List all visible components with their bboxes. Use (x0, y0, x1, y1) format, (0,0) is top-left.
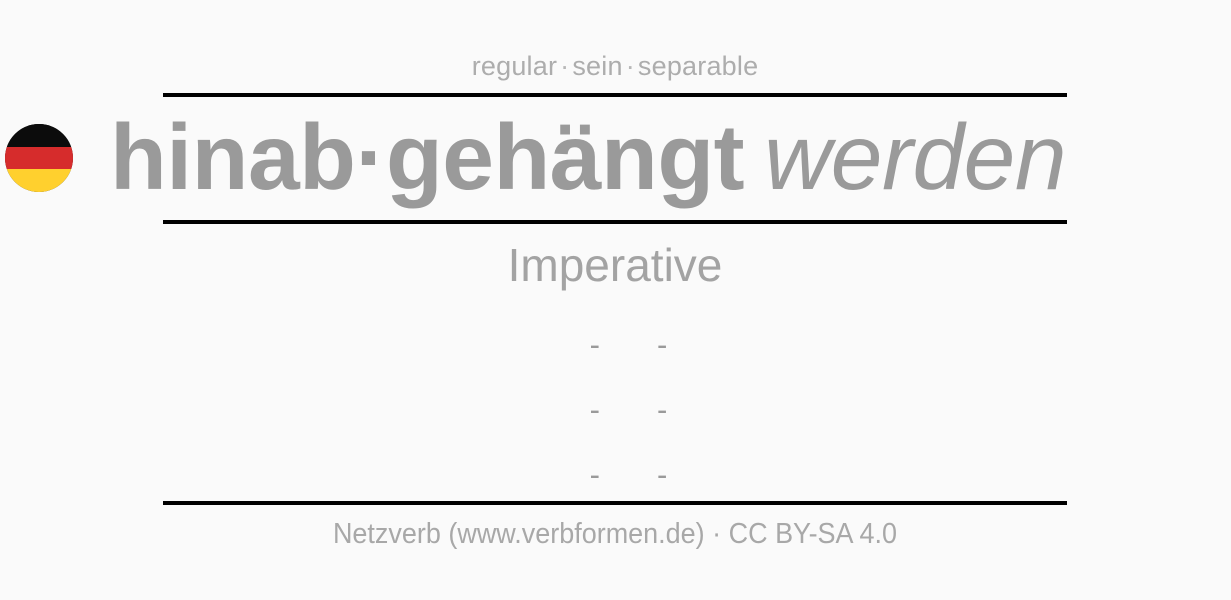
divider-top (163, 93, 1067, 97)
table-row: - - (163, 312, 1067, 377)
verb-attribute-regular: regular (472, 51, 557, 81)
verb-participle: hinab·gehängt (110, 105, 744, 209)
verb-attribute-separable: separable (638, 51, 758, 81)
flag-band-black (5, 124, 73, 147)
verb-auxiliary: werden (744, 105, 1066, 209)
form-cell-plural-2: - (612, 392, 1067, 428)
form-cell-singular-3: - (163, 457, 612, 493)
section-heading-imperative: Imperative (163, 238, 1067, 292)
verb-title: hinab·gehängtwerden (110, 104, 1231, 210)
divider-middle (163, 220, 1067, 224)
attribute-separator-1: · (557, 51, 572, 81)
conjugation-forms: - - - - - - (163, 312, 1067, 507)
attribute-separator-2: · (623, 51, 638, 81)
divider-bottom (163, 501, 1067, 505)
form-cell-plural-1: - (612, 327, 1067, 363)
flag-band-red (5, 147, 73, 170)
form-cell-plural-3: - (612, 457, 1067, 493)
table-row: - - (163, 377, 1067, 442)
conjugation-card: regular·sein·separable hinab·gehängtwerd… (0, 0, 1231, 600)
footer-attribution: Netzverb (www.verbformen.de) · CC BY-SA … (195, 515, 1036, 553)
german-flag-icon (5, 124, 73, 192)
verb-attributes: regular·sein·separable (163, 46, 1067, 86)
verb-attribute-auxiliary: sein (572, 51, 622, 81)
form-cell-singular-2: - (163, 392, 612, 428)
table-row: - - (163, 442, 1067, 507)
form-cell-singular-1: - (163, 327, 612, 363)
flag-band-gold (5, 169, 73, 192)
